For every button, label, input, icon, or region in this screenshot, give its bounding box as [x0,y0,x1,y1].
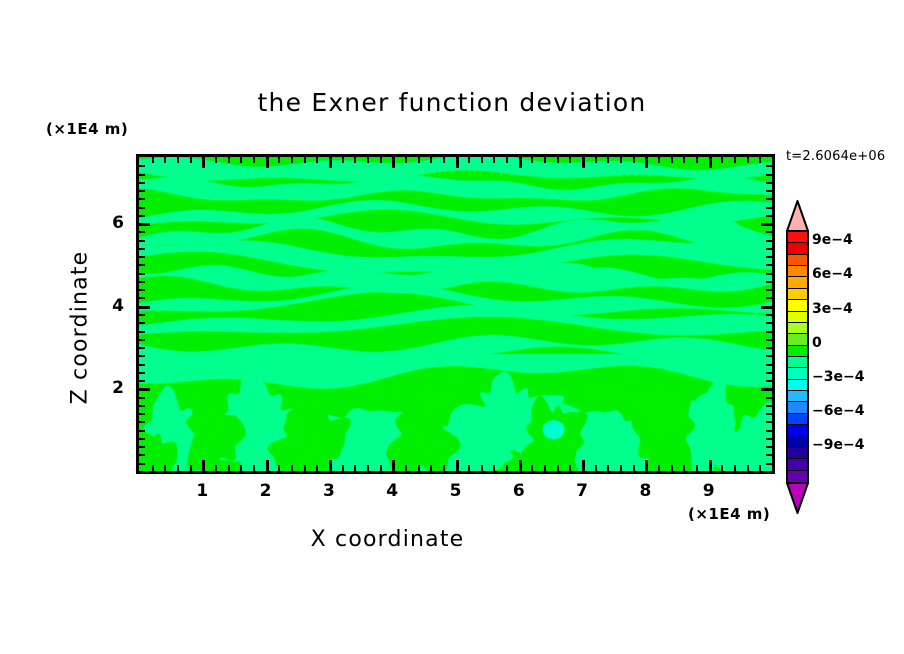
colorbar-over-arrow [786,200,809,232]
axis-tick [633,157,635,163]
colorbar-band [788,459,807,470]
axis-tick [721,157,723,163]
axis-tick [291,157,293,163]
axis-tick [766,297,772,299]
axis-tick [766,215,772,217]
colorbar-band [788,300,807,311]
axis-tick [766,454,772,456]
axis-tick [481,465,483,471]
axis-tick [139,223,150,226]
axis-tick [139,273,145,275]
axis-tick [595,465,597,471]
colorbar-tick-label: 9e−4 [812,232,853,248]
axis-tick [139,231,145,233]
axis-tick [164,465,166,471]
axis-tick [531,157,533,163]
x-tick-label: 1 [187,481,217,501]
axis-tick [177,465,179,471]
axis-tick [766,289,772,291]
axis-tick [658,157,660,163]
axis-tick [430,465,432,471]
colorbar-tick-label: −3e−4 [812,369,864,385]
y-axis-unit-label: (×1E4 m) [46,120,128,138]
axis-tick [620,157,622,163]
axis-tick [418,465,420,471]
axis-tick [683,157,685,163]
colorbar-tick-label: 6e−4 [812,266,853,282]
axis-tick [291,465,293,471]
axis-tick [139,331,145,333]
axis-tick [456,157,459,168]
axis-tick [139,207,145,209]
axis-tick [671,465,673,471]
axis-tick [139,438,145,440]
colorbar-band [788,471,807,482]
axis-tick [766,248,772,250]
axis-tick [354,157,356,163]
colorbar-band [788,425,807,436]
axis-tick [766,364,772,366]
axis-tick [215,465,217,471]
axis-tick [766,430,772,432]
axis-tick [531,465,533,471]
axis-tick [253,157,255,163]
axis-tick [139,446,145,448]
axis-tick [709,460,712,471]
axis-tick [582,157,585,168]
axis-tick [316,157,318,163]
x-tick-label: 2 [251,481,281,501]
axis-tick [658,465,660,471]
axis-tick [766,446,772,448]
colorbar-tick-label: −9e−4 [812,437,864,453]
axis-tick [367,157,369,163]
axis-tick [766,198,772,200]
axis-tick [329,460,332,471]
axis-tick [342,465,344,471]
colorbar-band [788,289,807,300]
axis-tick [139,190,145,192]
colorbar-band [788,255,807,266]
axis-tick [766,421,772,423]
axis-tick [645,460,648,471]
axis-tick [721,465,723,471]
colorbar-tick-label: 3e−4 [812,301,853,317]
colorbar-band [788,243,807,254]
colorbar-band [788,334,807,345]
axis-tick [367,465,369,471]
axis-tick [139,421,145,423]
axis-tick [139,174,145,176]
axis-tick [139,248,145,250]
axis-tick [766,331,772,333]
colorbar-band [788,448,807,459]
y-tick-label: 2 [100,378,124,398]
x-tick-label: 6 [504,481,534,501]
axis-tick [456,460,459,471]
axis-tick [766,314,772,316]
axis-tick [215,157,217,163]
axis-tick [418,157,420,163]
axis-tick [766,264,772,266]
axis-tick [766,231,772,233]
x-tick-label: 8 [630,481,660,501]
axis-tick [766,397,772,399]
axis-tick [759,157,761,163]
axis-tick [766,438,772,440]
axis-tick [620,465,622,471]
axis-tick [468,157,470,163]
axis-tick [139,198,145,200]
axis-tick [240,157,242,163]
axis-tick [506,465,508,471]
axis-tick [139,281,145,283]
axis-tick [607,465,609,471]
axis-tick [228,157,230,163]
axis-tick [177,157,179,163]
axis-tick [139,430,145,432]
axis-tick [766,256,772,258]
colorbar-band [788,368,807,379]
axis-tick [759,465,761,471]
axis-tick [766,207,772,209]
x-tick-label: 7 [567,481,597,501]
axis-tick [139,339,145,341]
axis-tick [582,460,585,471]
axis-tick [766,413,772,415]
axis-tick [734,157,736,163]
colorbar-band [788,346,807,357]
colorbar[interactable] [786,230,809,484]
axis-tick [139,314,145,316]
colorbar-band [788,391,807,402]
axis-tick [139,182,145,184]
axis-tick [493,465,495,471]
colorbar-band [788,232,807,243]
y-tick-label: 6 [100,213,124,233]
axis-tick [405,157,407,163]
axis-tick [766,273,772,275]
colorbar-band [788,277,807,288]
axis-tick [506,157,508,163]
axis-tick [304,465,306,471]
axis-tick [557,465,559,471]
axis-tick [766,463,772,465]
colorbar-band [788,402,807,413]
axis-tick [228,465,230,471]
axis-tick [164,157,166,163]
axis-tick [380,465,382,471]
axis-tick [544,465,546,471]
axis-tick [139,256,145,258]
colorbar-band [788,380,807,391]
axis-tick [766,372,772,374]
axis-tick [645,157,648,168]
axis-tick [761,306,772,309]
axis-tick [342,157,344,163]
axis-tick [544,157,546,163]
axis-tick [278,157,280,163]
axis-tick [734,465,736,471]
axis-tick [266,157,269,168]
colorbar-band [788,323,807,334]
axis-tick [766,165,772,167]
axis-tick [278,465,280,471]
axis-tick [633,465,635,471]
x-tick-label: 5 [441,481,471,501]
axis-tick [190,157,192,163]
axis-tick [139,388,150,391]
axis-tick [139,347,145,349]
axis-tick [747,157,749,163]
axis-tick [443,465,445,471]
colorbar-tick-label: 0 [812,335,822,351]
contour-field [139,157,772,471]
colorbar-under-arrow [786,482,809,514]
axis-tick [139,306,150,309]
axis-tick [139,289,145,291]
axis-tick [696,157,698,163]
axis-tick [139,165,145,167]
axis-tick [766,174,772,176]
axis-tick [405,465,407,471]
axis-tick [139,454,145,456]
axis-tick [139,463,145,465]
axis-tick [519,460,522,471]
axis-tick [253,465,255,471]
axis-tick [190,465,192,471]
axis-tick [152,157,154,163]
axis-tick [766,322,772,324]
axis-tick [671,157,673,163]
axis-tick [240,465,242,471]
axis-tick [139,413,145,415]
axis-tick [569,465,571,471]
axis-tick [607,157,609,163]
y-axis-title: Z coordinate [68,218,93,438]
axis-tick [139,372,145,374]
x-tick-label: 3 [314,481,344,501]
axis-tick [557,157,559,163]
axis-tick [266,460,269,471]
axis-tick [354,465,356,471]
axis-tick [696,465,698,471]
axis-tick [766,339,772,341]
axis-tick [761,388,772,391]
axis-tick [766,355,772,357]
axis-tick [304,157,306,163]
axis-tick [202,157,205,168]
x-axis-title: X coordinate [0,527,775,552]
axis-tick [493,157,495,163]
axis-tick [766,405,772,407]
axis-tick [139,240,145,242]
axis-tick [766,190,772,192]
axis-tick [139,355,145,357]
axis-tick [139,297,145,299]
axis-tick [380,157,382,163]
axis-tick [139,364,145,366]
axis-tick [392,157,395,168]
axis-tick [139,405,145,407]
plot-area [136,154,775,474]
axis-tick [766,240,772,242]
time-annotation: t=2.6064e+06 [786,149,885,164]
y-tick-label: 4 [100,296,124,316]
x-tick-label: 4 [377,481,407,501]
axis-tick [139,215,145,217]
figure-root: the Exner function deviation (×1E4 m) (×… [0,0,904,654]
axis-tick [139,397,145,399]
axis-tick [766,347,772,349]
axis-tick [443,157,445,163]
colorbar-tick-label: −6e−4 [812,403,864,419]
x-axis-unit-label: (×1E4 m) [688,505,770,523]
colorbar-band [788,266,807,277]
axis-tick [139,264,145,266]
axis-tick [747,465,749,471]
axis-tick [329,157,332,168]
axis-tick [766,281,772,283]
axis-tick [316,465,318,471]
axis-tick [569,157,571,163]
axis-tick [761,223,772,226]
chart-title: the Exner function deviation [0,88,904,117]
colorbar-band [788,436,807,447]
axis-tick [766,182,772,184]
axis-tick [709,157,712,168]
axis-tick [766,380,772,382]
axis-tick [392,460,395,471]
axis-tick [468,465,470,471]
axis-tick [152,465,154,471]
colorbar-band [788,414,807,425]
axis-tick [202,460,205,471]
axis-tick [519,157,522,168]
axis-tick [430,157,432,163]
axis-tick [595,157,597,163]
axis-tick [139,322,145,324]
axis-tick [139,380,145,382]
colorbar-band [788,357,807,368]
axis-tick [683,465,685,471]
axis-tick [481,157,483,163]
colorbar-band [788,312,807,323]
x-tick-label: 9 [694,481,724,501]
